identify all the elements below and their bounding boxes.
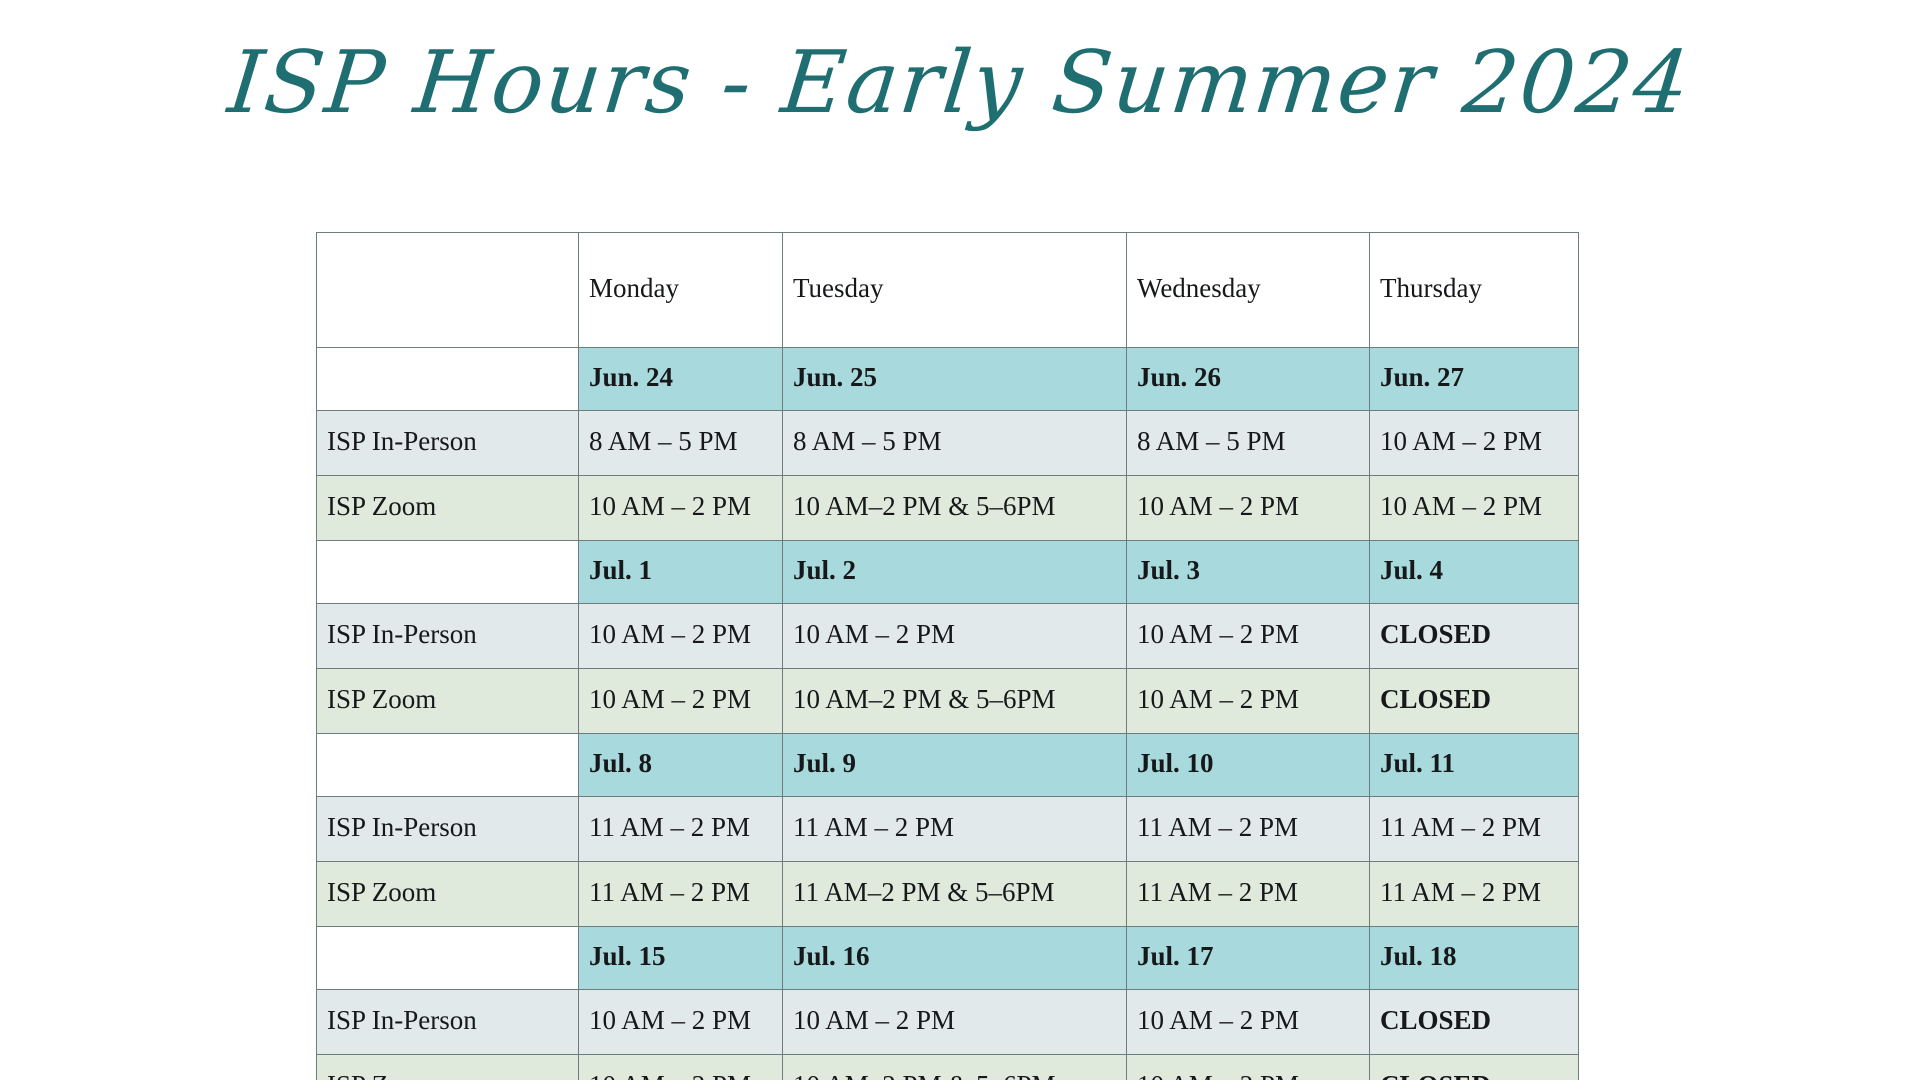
- row-label-in-person: ISP In-Person: [317, 797, 579, 862]
- date-row-label-cell: [317, 927, 579, 990]
- row-label-zoom: ISP Zoom: [317, 1055, 579, 1080]
- zoom-hours-thursday: CLOSED: [1370, 669, 1579, 734]
- date-cell-wednesday: Jul. 17: [1127, 927, 1370, 990]
- in-person-hours-thursday: 10 AM – 2 PM: [1370, 411, 1579, 476]
- date-cell-wednesday: Jul. 3: [1127, 541, 1370, 604]
- date-row-label-cell: [317, 734, 579, 797]
- in-person-hours-wednesday: 10 AM – 2 PM: [1127, 604, 1370, 669]
- zoom-hours-wednesday: 11 AM – 2 PM: [1127, 862, 1370, 927]
- table-row-in-person: ISP In-Person10 AM – 2 PM10 AM – 2 PM10 …: [317, 990, 1579, 1055]
- column-header-monday: Monday: [579, 233, 783, 348]
- table-row-dates: Jun. 24Jun. 25Jun. 26Jun. 27: [317, 348, 1579, 411]
- row-label-in-person: ISP In-Person: [317, 604, 579, 669]
- in-person-hours-thursday: CLOSED: [1370, 990, 1579, 1055]
- zoom-hours-tuesday: 10 AM–2 PM & 5–6PM: [783, 669, 1127, 734]
- date-cell-thursday: Jul. 11: [1370, 734, 1579, 797]
- table-row-dates: Jul. 1Jul. 2Jul. 3Jul. 4: [317, 541, 1579, 604]
- row-label-in-person: ISP In-Person: [317, 411, 579, 476]
- zoom-hours-tuesday: 11 AM–2 PM & 5–6PM: [783, 862, 1127, 927]
- table-row-dates: Jul. 8Jul. 9Jul. 10Jul. 11: [317, 734, 1579, 797]
- table-row-zoom: ISP Zoom10 AM – 2 PM10 AM–2 PM & 5–6PM10…: [317, 476, 1579, 541]
- row-label-in-person: ISP In-Person: [317, 990, 579, 1055]
- in-person-hours-monday: 10 AM – 2 PM: [579, 604, 783, 669]
- date-cell-monday: Jul. 1: [579, 541, 783, 604]
- zoom-hours-thursday: CLOSED: [1370, 1055, 1579, 1080]
- in-person-hours-thursday: 11 AM – 2 PM: [1370, 797, 1579, 862]
- table-row-zoom: ISP Zoom10 AM – 2 PM10 AM–2 PM & 5–6PM10…: [317, 1055, 1579, 1080]
- date-cell-monday: Jul. 8: [579, 734, 783, 797]
- date-cell-monday: Jul. 15: [579, 927, 783, 990]
- column-header-wednesday: Wednesday: [1127, 233, 1370, 348]
- zoom-hours-monday: 10 AM – 2 PM: [579, 1055, 783, 1080]
- header-corner-cell: [317, 233, 579, 348]
- date-cell-thursday: Jul. 4: [1370, 541, 1579, 604]
- in-person-hours-wednesday: 10 AM – 2 PM: [1127, 990, 1370, 1055]
- row-label-zoom: ISP Zoom: [317, 476, 579, 541]
- column-header-tuesday: Tuesday: [783, 233, 1127, 348]
- schedule-table: MondayTuesdayWednesdayThursdayJun. 24Jun…: [316, 232, 1579, 1080]
- column-header-thursday: Thursday: [1370, 233, 1579, 348]
- page-title: ISP Hours - Early Summer 2024: [225, 38, 1696, 128]
- date-cell-monday: Jun. 24: [579, 348, 783, 411]
- zoom-hours-wednesday: 10 AM – 2 PM: [1127, 1055, 1370, 1080]
- table-row-zoom: ISP Zoom10 AM – 2 PM10 AM–2 PM & 5–6PM10…: [317, 669, 1579, 734]
- date-cell-wednesday: Jul. 10: [1127, 734, 1370, 797]
- table-row-weekday-header: MondayTuesdayWednesdayThursday: [317, 233, 1579, 348]
- row-label-zoom: ISP Zoom: [317, 862, 579, 927]
- zoom-hours-thursday: 11 AM – 2 PM: [1370, 862, 1579, 927]
- date-cell-tuesday: Jul. 9: [783, 734, 1127, 797]
- table-row-in-person: ISP In-Person11 AM – 2 PM11 AM – 2 PM11 …: [317, 797, 1579, 862]
- date-row-label-cell: [317, 348, 579, 411]
- date-cell-tuesday: Jul. 2: [783, 541, 1127, 604]
- in-person-hours-monday: 8 AM – 5 PM: [579, 411, 783, 476]
- date-cell-thursday: Jul. 18: [1370, 927, 1579, 990]
- row-label-zoom: ISP Zoom: [317, 669, 579, 734]
- zoom-hours-tuesday: 10 AM–2 PM & 5–6PM: [783, 476, 1127, 541]
- in-person-hours-thursday: CLOSED: [1370, 604, 1579, 669]
- date-row-label-cell: [317, 541, 579, 604]
- in-person-hours-wednesday: 8 AM – 5 PM: [1127, 411, 1370, 476]
- table-row-in-person: ISP In-Person10 AM – 2 PM10 AM – 2 PM10 …: [317, 604, 1579, 669]
- zoom-hours-thursday: 10 AM – 2 PM: [1370, 476, 1579, 541]
- in-person-hours-tuesday: 10 AM – 2 PM: [783, 990, 1127, 1055]
- in-person-hours-tuesday: 10 AM – 2 PM: [783, 604, 1127, 669]
- zoom-hours-monday: 11 AM – 2 PM: [579, 862, 783, 927]
- table-row-in-person: ISP In-Person8 AM – 5 PM8 AM – 5 PM8 AM …: [317, 411, 1579, 476]
- zoom-hours-wednesday: 10 AM – 2 PM: [1127, 669, 1370, 734]
- in-person-hours-monday: 11 AM – 2 PM: [579, 797, 783, 862]
- zoom-hours-monday: 10 AM – 2 PM: [579, 669, 783, 734]
- zoom-hours-wednesday: 10 AM – 2 PM: [1127, 476, 1370, 541]
- page-title-container: ISP Hours - Early Summer 2024: [0, 38, 1920, 128]
- table-row-zoom: ISP Zoom11 AM – 2 PM11 AM–2 PM & 5–6PM11…: [317, 862, 1579, 927]
- date-cell-tuesday: Jul. 16: [783, 927, 1127, 990]
- zoom-hours-tuesday: 10 AM–2 PM & 5–6PM: [783, 1055, 1127, 1080]
- in-person-hours-tuesday: 11 AM – 2 PM: [783, 797, 1127, 862]
- zoom-hours-monday: 10 AM – 2 PM: [579, 476, 783, 541]
- date-cell-thursday: Jun. 27: [1370, 348, 1579, 411]
- schedule-table-container: MondayTuesdayWednesdayThursdayJun. 24Jun…: [316, 232, 1578, 1080]
- schedule-page: ISP Hours - Early Summer 2024 MondayTues…: [0, 0, 1920, 1080]
- in-person-hours-monday: 10 AM – 2 PM: [579, 990, 783, 1055]
- date-cell-wednesday: Jun. 26: [1127, 348, 1370, 411]
- in-person-hours-tuesday: 8 AM – 5 PM: [783, 411, 1127, 476]
- schedule-table-body: MondayTuesdayWednesdayThursdayJun. 24Jun…: [317, 233, 1579, 1080]
- table-row-dates: Jul. 15Jul. 16Jul. 17Jul. 18: [317, 927, 1579, 990]
- date-cell-tuesday: Jun. 25: [783, 348, 1127, 411]
- in-person-hours-wednesday: 11 AM – 2 PM: [1127, 797, 1370, 862]
